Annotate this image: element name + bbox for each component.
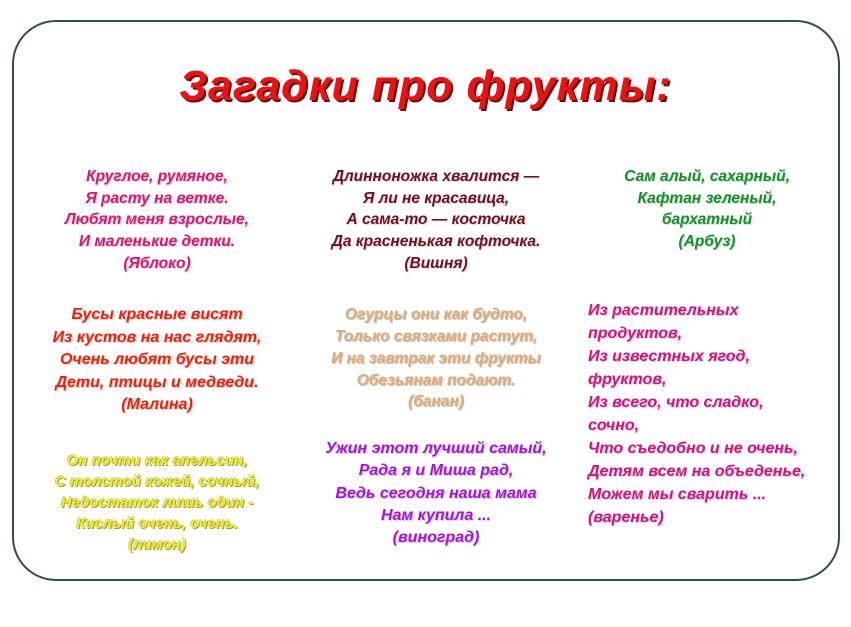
column-left: Круглое, румяное, Я расту на ветке. Любя… [26,162,294,555]
riddle-jam: Из растительных продуктов, Из известных … [588,299,826,529]
page-title: Загадки про фрукты: [0,62,851,111]
riddle-watermelon: Сам алый, сахарный, Кафтан зеленый, барх… [588,166,826,253]
riddle-banana: Огурцы они как будто, Только связками ра… [294,304,578,412]
riddle-cherry: Длинноножка хвалится — Я ли не красавица… [294,166,578,274]
slide-canvas: Загадки про фрукты: Круглое, румяное, Я … [0,0,851,627]
column-right: Сам алый, сахарный, Кафтан зеленый, барх… [578,162,826,529]
column-middle: Длинноножка хвалится — Я ли не красавица… [294,162,578,550]
riddle-raspberry: Бусы красные висят Из кустов на нас гляд… [26,304,288,416]
riddles-grid: Круглое, румяное, Я расту на ветке. Любя… [26,162,826,562]
riddle-grape: Ужин этот лучший самый, Рада я и Миша ра… [294,438,578,550]
riddle-apple: Круглое, румяное, Я расту на ветке. Любя… [26,166,288,274]
riddle-lemon: Он почти как апельсин, С толстой кожей, … [26,450,288,555]
